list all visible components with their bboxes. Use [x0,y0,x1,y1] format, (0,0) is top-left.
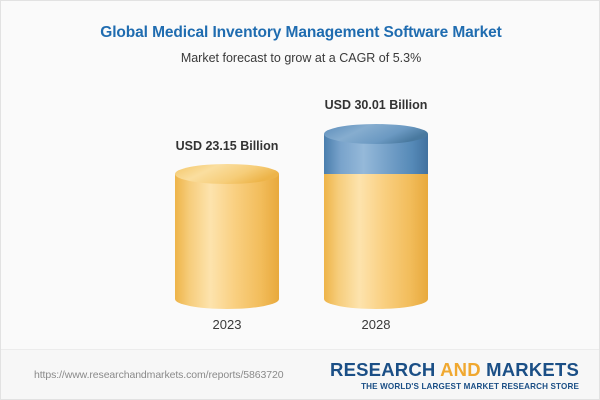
bar-value-label-2028: USD 30.01 Billion [288,98,464,112]
cylinder-body-2023 [175,174,279,309]
logo-word-markets: MARKETS [486,359,579,380]
cylinder-bar-2023 [175,164,279,309]
logo-word-research: RESEARCH [330,359,435,380]
cylinder-top-ellipse-2023 [175,164,279,184]
cylinder-bar-2028 [324,124,428,309]
cylinder-top-ellipse-2028 [324,124,428,144]
report-url[interactable]: https://www.researchandmarkets.com/repor… [34,369,283,381]
logo-tagline: THE WORLD'S LARGEST MARKET RESEARCH STOR… [330,383,579,391]
market-forecast-infographic-card: Global Medical Inventory Management Soft… [0,0,600,400]
logo-wordmark: RESEARCH AND MARKETS [330,361,579,380]
bar-value-label-2023: USD 23.15 Billion [139,139,315,153]
logo-word-and: AND [435,359,486,380]
bar-chart-plot-area: USD 23.15 Billion [1,1,600,349]
footer: https://www.researchandmarkets.com/repor… [1,349,600,400]
x-axis-label-2028: 2028 [288,317,464,332]
research-and-markets-logo[interactable]: RESEARCH AND MARKETS THE WORLD'S LARGEST… [330,361,579,391]
cylinder-body-base-2028 [324,174,428,309]
